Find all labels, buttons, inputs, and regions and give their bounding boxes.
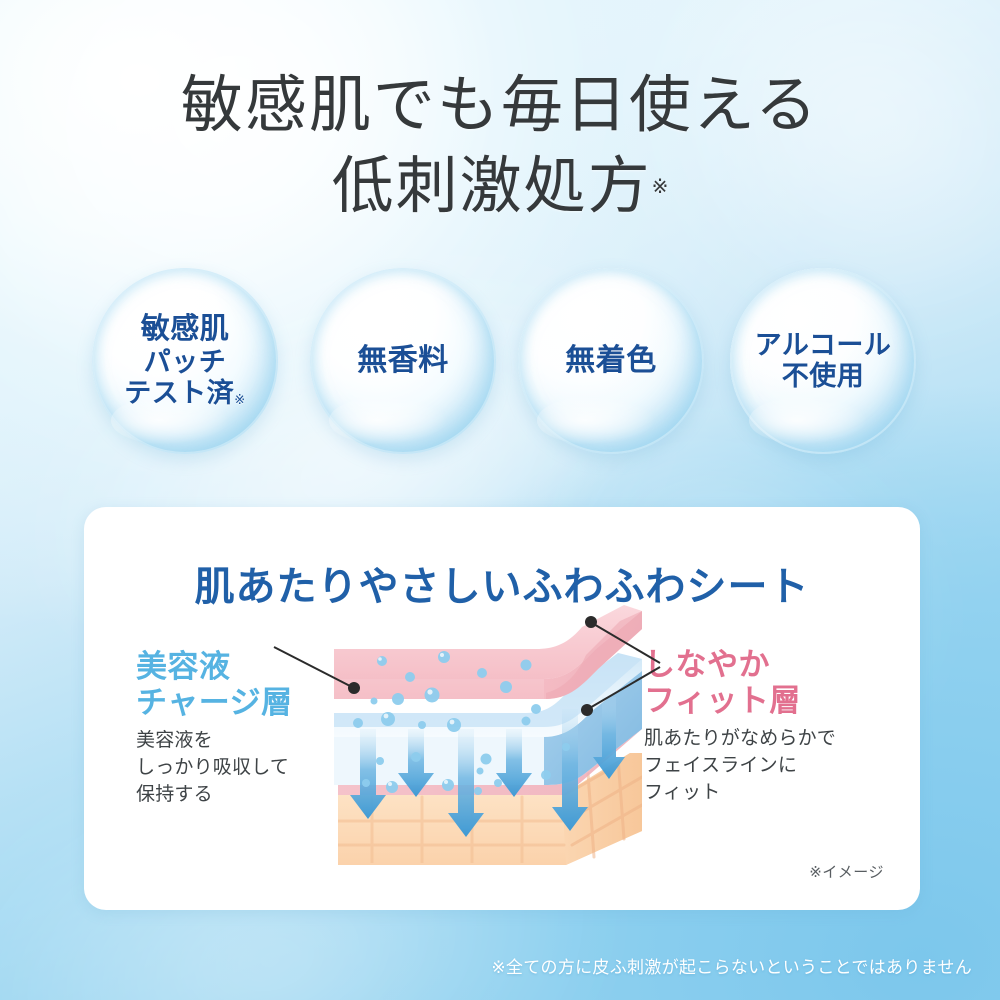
- label-body-line-3: 保持する: [136, 784, 213, 805]
- label-body-line-2: フェイスラインに: [644, 755, 797, 776]
- badge-asterisk: ※: [234, 392, 245, 407]
- badge-color-free: 無着色: [518, 268, 704, 454]
- badge-line-1: 無香料: [357, 344, 449, 377]
- badge-line-2: 不使用: [782, 361, 865, 391]
- label-body-line-2: しっかり吸収して: [136, 757, 289, 778]
- headline-line-1: 敏感肌でも毎日使える: [0, 66, 1000, 147]
- image-disclaimer: ※イメージ: [809, 861, 884, 882]
- headline-line-2: 低刺激処方※: [0, 147, 1000, 228]
- headline: 敏感肌でも毎日使える 低刺激処方※: [0, 66, 1000, 227]
- badge-line-1: アルコール: [755, 330, 892, 360]
- label-heading-line-2: チャージ層: [136, 685, 293, 720]
- badge-alcohol-free: アルコール 不使用: [730, 268, 916, 454]
- badge-line-2: パッチ: [144, 347, 227, 377]
- headline-line-2-text: 低刺激処方: [332, 153, 652, 221]
- badge-label: 無香料: [357, 344, 449, 379]
- label-body-line-1: 肌あたりがなめらかで: [644, 728, 836, 749]
- badge-line-1: 敏感肌: [141, 313, 230, 345]
- label-flexible-fit-layer: しなやか フィット層 肌あたりがなめらかで フェイスラインに フィット: [644, 647, 894, 807]
- label-heading: 美容液 チャージ層: [136, 649, 356, 721]
- badge-row: 敏感肌 パッチ テスト済※ 無香料 無着色 アルコール 不使用: [0, 268, 1000, 464]
- badge-sensitive-skin-patch-tested: 敏感肌 パッチ テスト済※: [92, 268, 278, 454]
- badge-label: アルコール 不使用: [755, 330, 892, 393]
- label-heading-line-1: しなやか: [644, 647, 770, 682]
- label-heading: しなやか フィット層: [644, 647, 894, 719]
- sheet-layer-diagram: [330, 625, 650, 875]
- badge-fragrance-free: 無香料: [310, 268, 496, 454]
- label-body: 肌あたりがなめらかで フェイスラインに フィット: [644, 726, 894, 807]
- badge-line-3: テスト済: [124, 378, 234, 408]
- badge-label: 敏感肌 パッチ テスト済※: [124, 313, 245, 409]
- badge-line-1: 無着色: [565, 344, 657, 377]
- label-body: 美容液を しっかり吸収して 保持する: [136, 728, 356, 809]
- label-body-line-1: 美容液を: [136, 730, 213, 751]
- sheet-info-card: 肌あたりやさしいふわふわシート 美容液 チャージ層 美容液を しっかり吸収して …: [84, 507, 920, 910]
- label-heading-line-1: 美容液: [136, 649, 231, 684]
- footnote: ※全ての方に皮ふ刺激が起こらないということではありません: [491, 953, 972, 978]
- label-body-line-3: フィット: [644, 782, 720, 803]
- card-title: 肌あたりやさしいふわふわシート: [84, 554, 920, 612]
- label-heading-line-2: フィット層: [644, 683, 801, 718]
- badge-label: 無着色: [565, 344, 657, 379]
- headline-asterisk: ※: [652, 176, 669, 198]
